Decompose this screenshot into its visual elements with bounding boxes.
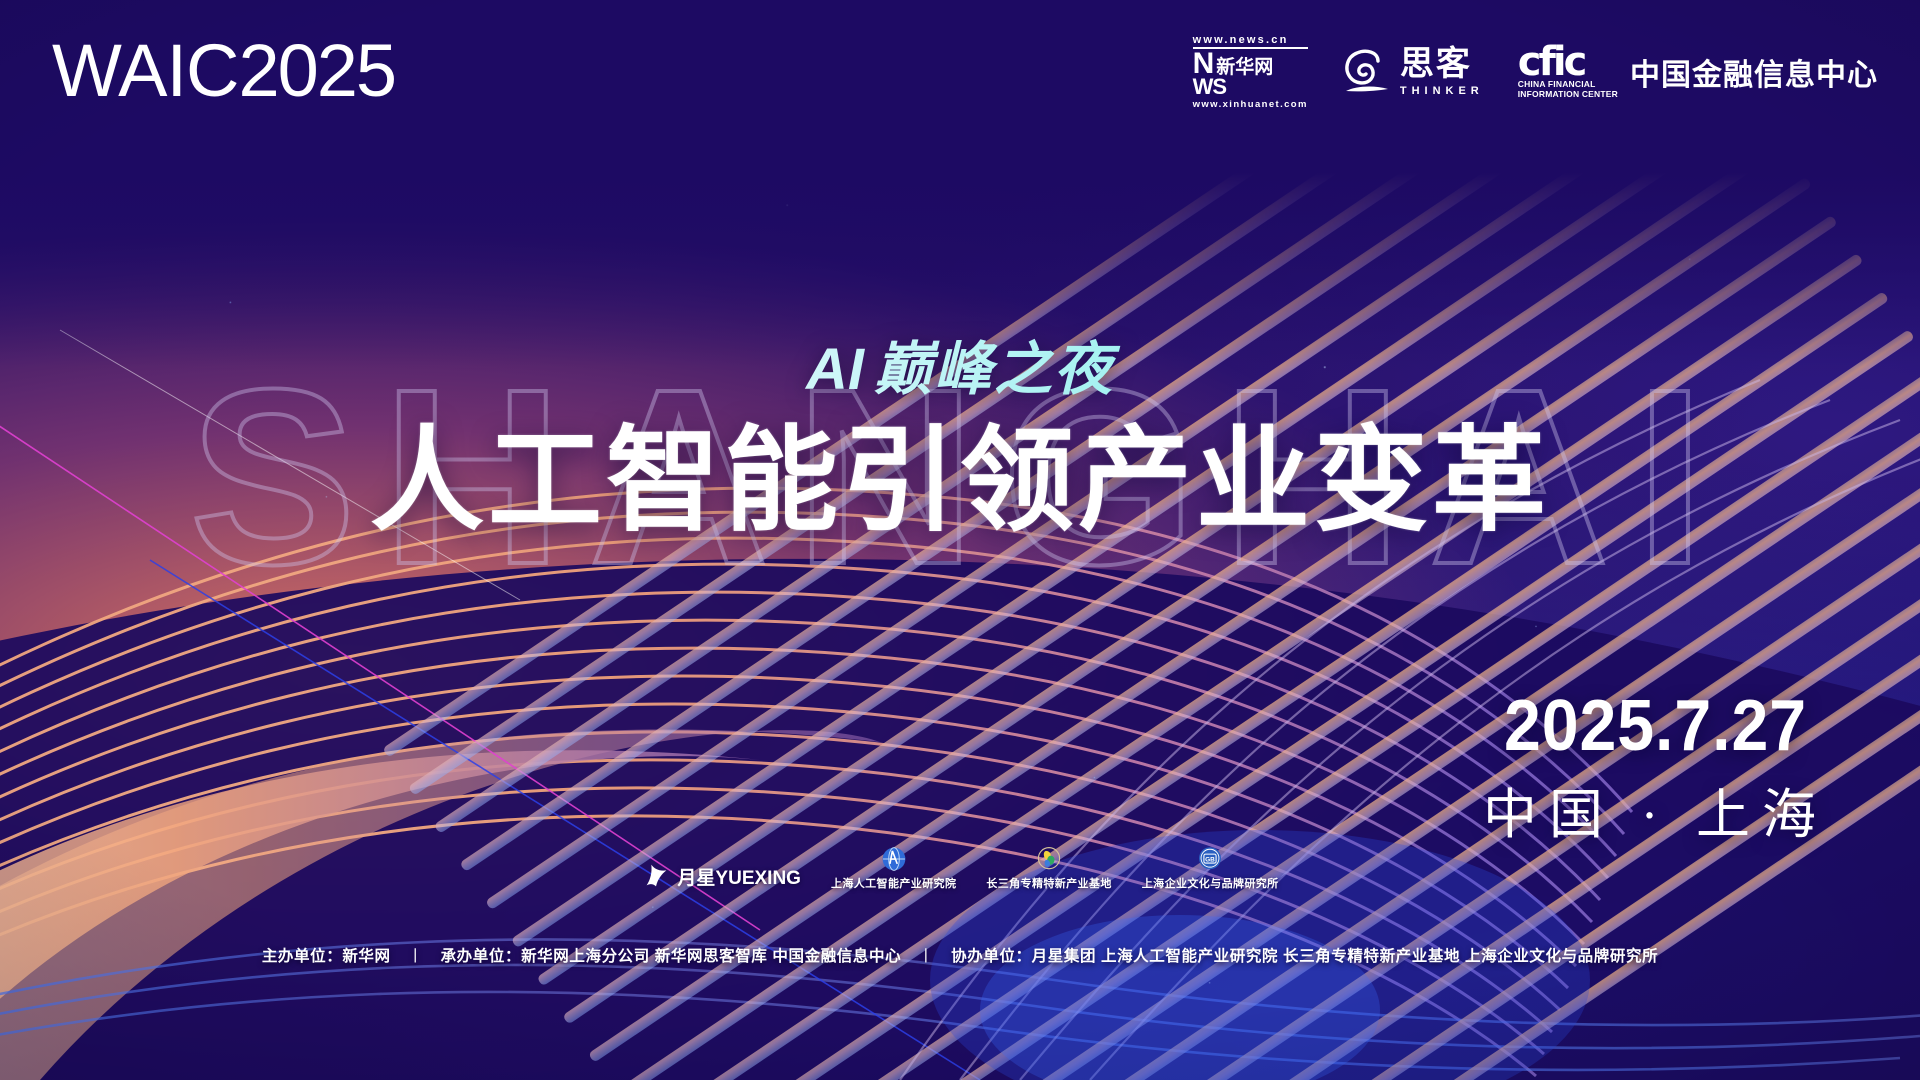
- svg-text:GB: GB: [1205, 856, 1215, 863]
- sponsor-shanghai-ai-institute: 上海人工智能产业研究院: [831, 846, 956, 891]
- sponsor-label: 上海人工智能产业研究院: [831, 875, 956, 891]
- thinker-en-name: THINKER: [1400, 85, 1484, 97]
- sponsor-brand-research-institute: GB 上海企业文化与品牌研究所: [1142, 846, 1279, 891]
- kicker-en: AI: [806, 337, 864, 402]
- waic-logo: WAIC2025: [52, 34, 395, 108]
- cfic-en-line2: INFORMATION CENTER: [1518, 90, 1618, 100]
- event-location: 中国 · 上海: [1483, 788, 1828, 842]
- partner-logo-group: www.news.cn N 新华网 WS www.xinhuanet.com 思…: [1193, 34, 1878, 110]
- credits-coorganizer: 协办单位：月星集团 上海人工智能产业研究院 长三角专精特新产业基地 上海企业文化…: [951, 948, 1658, 965]
- credits-organizer: 承办单位：新华网上海分公司 新华网思客智库 中国金融信息中心: [441, 948, 902, 965]
- sponsor-label: 长三角专精特新产业基地: [986, 875, 1111, 891]
- map-icon: [1036, 846, 1062, 872]
- thinker-cn-name: 思客: [1400, 47, 1484, 81]
- xinhua-url-bottom: www.xinhuanet.com: [1193, 99, 1308, 110]
- event-kicker: AI巅峰之夜: [0, 322, 1920, 406]
- poster-canvas: SHANGHAI WAIC2025 www.news.cn N 新华网 WS w…: [0, 0, 1920, 1080]
- thinker-logo: 思客 THINKER: [1342, 47, 1484, 97]
- seal-icon: GB: [1197, 846, 1223, 872]
- waic-logo-year: 2025: [238, 29, 395, 112]
- credits-separator-1: 丨: [408, 944, 424, 966]
- page-title: 人工智能引领产业变革: [0, 420, 1920, 543]
- sponsor-yangtze-delta-base: 长三角专精特新产业基地: [986, 846, 1111, 891]
- cfic-cn-name: 中国金融信息中心: [1630, 50, 1878, 94]
- credits-line: 主办单位：新华网 丨 承办单位：新华网上海分公司 新华网思客智库 中国金融信息中…: [0, 944, 1920, 966]
- brush-spiral-icon: [1342, 47, 1392, 97]
- event-date: 2025.7.27: [1497, 690, 1814, 762]
- sponsor-label: 月星YUEXING: [677, 863, 801, 890]
- waic-logo-text: WAIC: [52, 29, 238, 112]
- kicker-cn: 巅峰之夜: [874, 337, 1114, 402]
- top-bar: WAIC2025 www.news.cn N 新华网 WS www.xinhua…: [0, 0, 1920, 140]
- cfic-abbr: cfic: [1518, 44, 1618, 80]
- event-details: 2025.7.27 中国 · 上海: [1483, 690, 1828, 842]
- hero-block: AI巅峰之夜 人工智能引领产业变革: [0, 322, 1920, 543]
- globe-icon: [881, 846, 907, 872]
- star-icon: [641, 861, 671, 891]
- sponsor-yuexing: 月星YUEXING: [641, 861, 801, 891]
- credits-host: 主办单位：新华网: [262, 948, 391, 965]
- xinhua-sub: WS: [1193, 77, 1308, 96]
- sponsor-label: 上海企业文化与品牌研究所: [1142, 875, 1279, 891]
- xinhua-logo: www.news.cn N 新华网 WS www.xinhuanet.com: [1193, 34, 1308, 110]
- cfic-logo: cfic CHINA FINANCIAL INFORMATION CENTER …: [1518, 44, 1878, 100]
- credits-separator-2: 丨: [918, 944, 934, 966]
- sponsor-logo-strip: 月星YUEXING 上海人工智能产业研究院 长三角专精特新产业基地: [0, 846, 1920, 891]
